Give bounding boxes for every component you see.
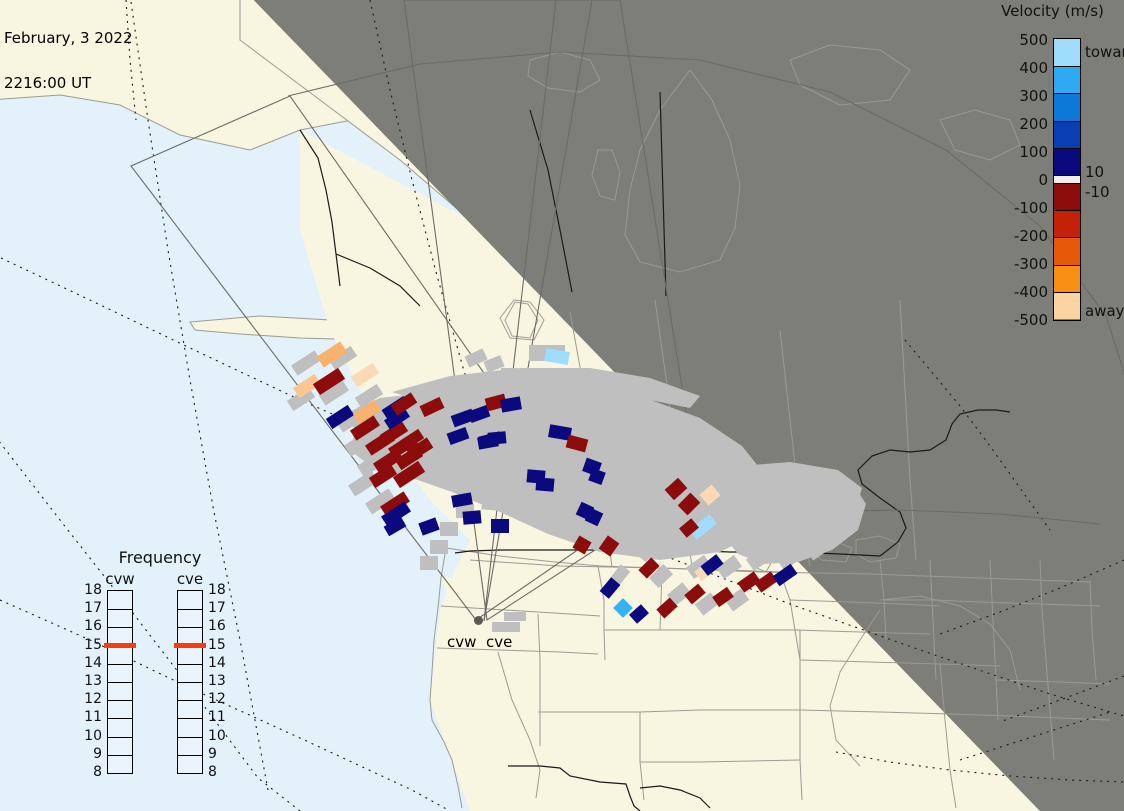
frequency-cell-cvw-5 — [108, 682, 132, 700]
timestamp-block: February, 3 2022 2216:00 UT — [4, 1, 133, 121]
frequency-tick-right-11: 11 — [208, 709, 236, 725]
frequency-tick-left-9: 9 — [74, 746, 102, 762]
frequency-bar-cve — [177, 590, 203, 774]
velocity-tick--400: -400 — [1014, 283, 1048, 301]
frequency-tick-right-10: 10 — [208, 728, 236, 744]
frequency-cell-cve-3 — [178, 646, 202, 664]
frequency-tick-right-17: 17 — [208, 600, 236, 616]
velocity-tick--100: -100 — [1014, 199, 1048, 217]
frequency-tick-left-15: 15 — [74, 637, 102, 653]
radar-site-dot-cvw — [474, 616, 483, 625]
frequency-cell-cve-7 — [178, 718, 202, 736]
velocity-colorbar — [1053, 38, 1081, 321]
frequency-legend: Frequency cvw cve 18171615141312111098 1… — [60, 548, 260, 778]
frequency-marker-cvw — [104, 643, 136, 648]
frequency-tick-left-8: 8 — [74, 764, 102, 780]
frequency-column-label-cvw: cvw — [100, 570, 140, 588]
frequency-tick-left-11: 11 — [74, 709, 102, 725]
radar-site-label-cve: cve — [486, 633, 512, 651]
velocity-band-1 — [1054, 66, 1080, 93]
frequency-cell-cvw-9 — [108, 755, 132, 773]
frequency-cell-cve-5 — [178, 682, 202, 700]
frequency-tick-right-14: 14 — [208, 655, 236, 671]
velocity-cell — [535, 477, 554, 492]
velocity-cell — [488, 431, 507, 445]
velocity-cell — [462, 510, 481, 525]
frequency-cell-cve-1 — [178, 609, 202, 627]
velocity-away-label: away — [1085, 302, 1124, 320]
velocity-band-0 — [1054, 39, 1080, 66]
velocity-tick-0: 0 — [1038, 171, 1048, 189]
frequency-cell-cvw-6 — [108, 700, 132, 718]
velocity-band-10 — [1054, 292, 1080, 319]
frequency-cell-cvw-4 — [108, 664, 132, 682]
frequency-cell-cvw-8 — [108, 737, 132, 755]
frequency-bar-cvw — [107, 590, 133, 774]
velocity-tick-100: 100 — [1019, 143, 1048, 161]
velocity-band-8 — [1054, 237, 1080, 264]
frequency-marker-cve — [174, 643, 206, 648]
frequency-cell-cvw-3 — [108, 646, 132, 664]
velocity-upper-inner-label: 10 — [1085, 163, 1104, 181]
velocity-toward-label: toward — [1085, 43, 1124, 61]
velocity-band-2 — [1054, 93, 1080, 120]
velocity-lower-inner-label: -10 — [1085, 183, 1110, 201]
velocity-band-9 — [1054, 265, 1080, 292]
frequency-cell-cve-0 — [178, 591, 202, 609]
frequency-tick-left-10: 10 — [74, 728, 102, 744]
frequency-legend-title: Frequency — [60, 548, 260, 567]
radar-map-canvas: February, 3 2022 2216:00 UT cvw cve Velo… — [0, 0, 1124, 811]
velocity-band-6 — [1054, 183, 1080, 210]
frequency-cell-cve-8 — [178, 737, 202, 755]
velocity-tick--300: -300 — [1014, 255, 1048, 273]
velocity-band-4 — [1054, 148, 1080, 175]
radar-site-label-cvw: cvw — [447, 633, 476, 651]
frequency-cell-cve-6 — [178, 700, 202, 718]
timestamp-date: February, 3 2022 — [4, 31, 133, 46]
velocity-cell — [491, 519, 509, 533]
velocity-tick-200: 200 — [1019, 115, 1048, 133]
frequency-tick-left-17: 17 — [74, 600, 102, 616]
frequency-tick-right-8: 8 — [208, 764, 236, 780]
velocity-band-7 — [1054, 210, 1080, 237]
frequency-cell-cvw-0 — [108, 591, 132, 609]
frequency-tick-left-13: 13 — [74, 673, 102, 689]
velocity-band-5 — [1054, 175, 1080, 183]
frequency-cell-cvw-7 — [108, 718, 132, 736]
frequency-tick-right-12: 12 — [208, 691, 236, 707]
timestamp-time: 2216:00 UT — [4, 76, 133, 91]
velocity-tick-300: 300 — [1019, 87, 1048, 105]
velocity-band-3 — [1054, 121, 1080, 148]
velocity-tick-400: 400 — [1019, 59, 1048, 77]
frequency-tick-right-18: 18 — [208, 582, 236, 598]
frequency-tick-right-13: 13 — [208, 673, 236, 689]
frequency-tick-left-16: 16 — [74, 618, 102, 634]
frequency-tick-left-18: 18 — [74, 582, 102, 598]
frequency-cell-cve-4 — [178, 664, 202, 682]
frequency-tick-left-12: 12 — [74, 691, 102, 707]
frequency-tick-right-15: 15 — [208, 637, 236, 653]
velocity-tick-500: 500 — [1019, 31, 1048, 49]
frequency-tick-right-16: 16 — [208, 618, 236, 634]
frequency-tick-right-9: 9 — [208, 746, 236, 762]
frequency-cell-cvw-1 — [108, 609, 132, 627]
velocity-tick--500: -500 — [1014, 311, 1048, 329]
frequency-tick-left-14: 14 — [74, 655, 102, 671]
frequency-column-label-cve: cve — [170, 570, 210, 588]
velocity-tick--200: -200 — [1014, 227, 1048, 245]
frequency-cell-cve-9 — [178, 755, 202, 773]
